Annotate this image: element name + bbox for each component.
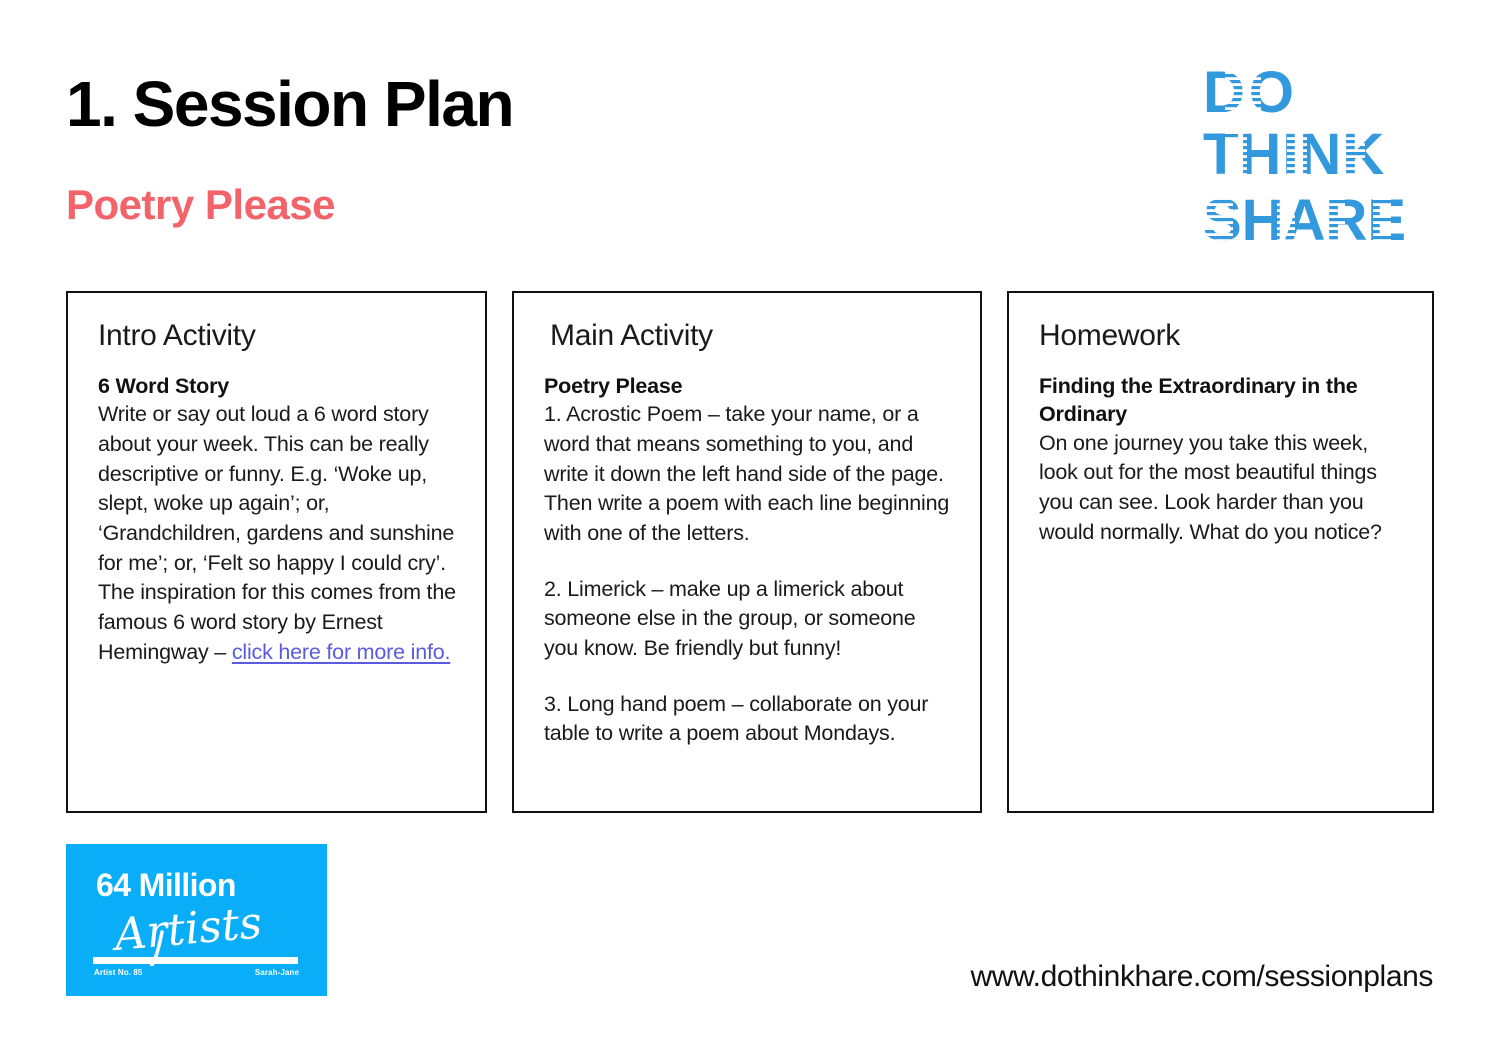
spacer	[544, 549, 952, 575]
hemingway-link[interactable]: click here for more info.	[232, 640, 450, 664]
64-million-artists-badge: 64 Million Artists Artist No. 85 Sarah-J…	[66, 844, 327, 996]
do-think-share-logo: DO DO DO	[1203, 62, 1443, 257]
card-intro-activity: Intro Activity 6 Word Story Write or say…	[66, 291, 487, 813]
card-body-main-3: 3. Long hand poem – collaborate on your …	[544, 690, 952, 749]
card-main-activity: Main Activity Poetry Please 1. Acrostic …	[512, 291, 982, 813]
badge-artist-name: Sarah-Jane	[255, 968, 299, 977]
card-body-main-1: 1. Acrostic Poem – take your name, or a …	[544, 400, 952, 548]
card-body-main-2: 2. Limerick – make up a limerick about s…	[544, 575, 952, 664]
badge-divider	[93, 957, 298, 964]
card-subheading-homework: Finding the Extraordinary in the Ordinar…	[1039, 372, 1404, 429]
spacer	[544, 664, 952, 690]
page-subtitle: Poetry Please	[66, 184, 335, 226]
activity-cards: Intro Activity 6 Word Story Write or say…	[66, 291, 1434, 813]
card-heading-homework: Homework	[1039, 319, 1404, 352]
page-title: 1. Session Plan	[66, 72, 513, 136]
svg-text:Artists: Artists	[109, 904, 264, 961]
card-subheading-main: Poetry Please	[544, 372, 952, 400]
badge-artist-number: Artist No. 85	[94, 968, 142, 977]
footer-url[interactable]: www.dothinkhare.com/sessionplans	[971, 960, 1433, 994]
card-subheading-intro: 6 Word Story	[98, 372, 457, 400]
card-heading-intro: Intro Activity	[98, 319, 457, 352]
card-body-intro-text: Write or say out loud a 6 word story abo…	[98, 402, 456, 663]
card-body-homework: On one journey you take this week, look …	[1039, 429, 1404, 548]
card-body-intro: Write or say out loud a 6 word story abo…	[98, 400, 457, 667]
card-heading-main: Main Activity	[550, 319, 952, 352]
card-homework: Homework Finding the Extraordinary in th…	[1007, 291, 1434, 813]
badge-title: 64 Million	[96, 869, 236, 901]
